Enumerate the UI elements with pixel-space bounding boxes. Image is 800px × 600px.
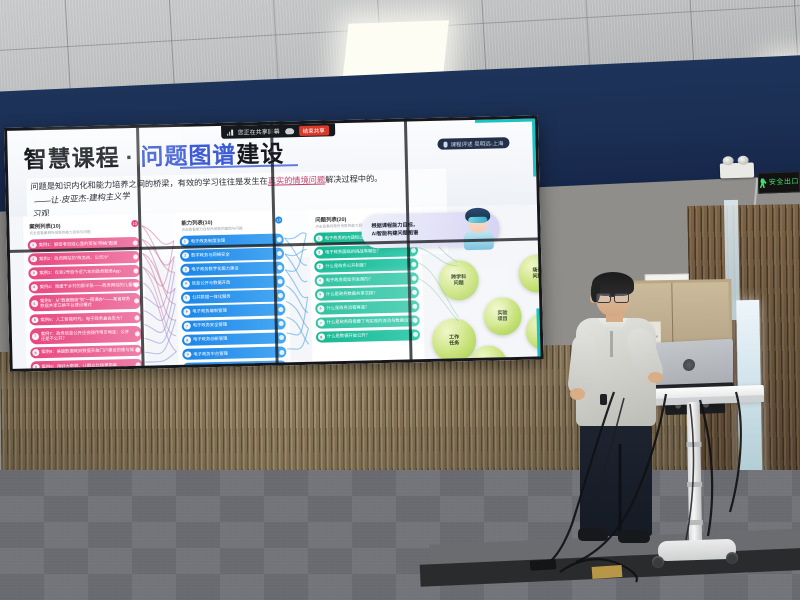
- shoe: [618, 530, 650, 543]
- column-cases: 案例列表(10) 点击查看案例所关联的能力目标与问题 10 1案例1：解密老百姓…: [23, 214, 147, 369]
- emergency-light: [720, 162, 755, 178]
- stop-sharing-button[interactable]: 结束共享: [299, 125, 329, 136]
- card-index: 7: [32, 333, 39, 340]
- ai-suggestion-bubble[interactable]: 根据课程能力目标， AI智能构建问题图谱: [361, 211, 500, 248]
- card-label: 案例2：政府网站的"政务热、公示冷": [39, 254, 109, 262]
- card-connector-port[interactable]: [134, 299, 139, 304]
- graph-node-card[interactable]: 7什么是政务网需要了何实现的流动与数据治理？: [316, 315, 420, 329]
- card-index: 7: [318, 320, 325, 327]
- caster-wheel: [726, 552, 738, 564]
- led-video-wall[interactable]: 智慧课程·问题图谱建设 问题是知识内化和能力培养之间的桥梁，有效的学习往往是发生…: [4, 115, 544, 372]
- card-label: 电子政务数字化能力建设: [191, 265, 238, 272]
- card-index: 5: [31, 300, 38, 307]
- topic-bubble[interactable]: 场景 问题: [518, 254, 540, 293]
- card-label: 数字政务与网络安全: [191, 252, 230, 259]
- card-index: 8: [318, 334, 325, 341]
- card-connector-port[interactable]: [135, 331, 140, 336]
- card-label: 案例8：美国数据政府数据开放门户建设的建与城: [41, 347, 134, 355]
- card-connector-port[interactable]: [133, 240, 138, 245]
- card-connector-port[interactable]: [412, 276, 417, 281]
- graph-node-card[interactable]: 7案例7：政务信息公开还会随作带贝地走：公开还是不公开？: [30, 326, 142, 345]
- graph-node-card[interactable]: 5公共数据一体化服务: [181, 290, 285, 304]
- title-part2: 建设: [236, 140, 285, 167]
- graph-node-card[interactable]: 1案例1：解密老百姓心里的那张"网格"图谱: [28, 237, 140, 251]
- column-capabilities: 能力列表(10) 点击查看能力目标所关联的案例与问题 10 1电子政务制度治理2…: [175, 210, 291, 365]
- card-connector-port[interactable]: [278, 279, 283, 284]
- accent-bar-right-top: [532, 118, 536, 176]
- card-label: 案例6：人工智能时代，电子政务盒会应允？: [40, 315, 124, 323]
- subtitle-highlight: 真实的情境问题: [268, 175, 326, 185]
- card-label: 案例3：在浙2号自今近六年的政务服务App: [39, 268, 120, 276]
- page-title: 智慧课程·问题图谱建设: [23, 134, 284, 174]
- lectern-column: [687, 402, 703, 550]
- card-index: 2: [182, 252, 189, 259]
- card-connector-port[interactable]: [279, 335, 284, 340]
- exit-sign-label: 安全出口: [769, 178, 799, 186]
- card-label: 什么是政务流程再造？: [326, 305, 369, 312]
- caster-wheel: [652, 556, 664, 568]
- card-label: 什么是数据开放公开？: [327, 333, 370, 340]
- card-connector-port[interactable]: [413, 332, 418, 337]
- title-part1: 智慧课程: [23, 144, 120, 172]
- card-label: 案例1：解密老百姓心里的那张"网格"图谱: [39, 240, 118, 248]
- subtitle-line1-end: 解决过程中的。: [325, 174, 383, 184]
- graph-node-card[interactable]: 6什么是政务流程再造？: [315, 301, 419, 315]
- card-label: 电子政务中台管理: [193, 350, 228, 357]
- card-connector-port[interactable]: [413, 318, 418, 323]
- card-connector-port[interactable]: [277, 237, 282, 242]
- card-index: 3: [182, 266, 189, 273]
- card-index: 6: [317, 305, 324, 312]
- left-hand: [570, 388, 585, 400]
- eyeglasses-icon: [596, 293, 629, 302]
- card-connector-port[interactable]: [135, 348, 140, 353]
- card-label: 电子政务面临的挑战有哪些？: [325, 248, 381, 255]
- card-label: 公共数据一体化服务: [192, 294, 231, 301]
- card-label: 什么是政务网需要了何实现的流动与数据治理？: [327, 318, 417, 326]
- card-label: 案例5：从"数据烟囱"到"一网通办"——某省政务数据共享交换平台建设模式: [40, 296, 132, 309]
- card-index: 6: [31, 317, 38, 324]
- ai-assistant-avatar: [459, 207, 498, 250]
- card-connector-port[interactable]: [279, 349, 284, 354]
- graph-node-card[interactable]: 4信息公开与数据开放: [181, 276, 285, 290]
- graph-node-card[interactable]: 1电子政务制度治理: [180, 233, 284, 247]
- exit-sign: 安全出口: [758, 171, 800, 193]
- card-index: 1: [316, 235, 323, 242]
- card-index: 5: [317, 291, 324, 298]
- presenter-badge[interactable]: 课程评述 吴明远-上海: [437, 137, 509, 150]
- card-connector-port[interactable]: [136, 362, 141, 367]
- card-label: 什么是政务公开制度？: [325, 262, 368, 269]
- lecture-hall-scene: 安全出口 智慧课程·问题图谱建设 问题是知识内化和能力培养之间的桥梁，有效的学习…: [0, 0, 800, 600]
- topic-bubble[interactable]: 实验 项目: [483, 297, 522, 336]
- graph-node-card[interactable]: 8案例8：美国数据政府数据开放门户建设的建与城: [30, 344, 142, 358]
- card-index: 1: [182, 238, 189, 245]
- screen-share-toolbar[interactable]: 您正在共享屏幕 结束共享: [221, 123, 335, 139]
- card-index: 5: [183, 295, 190, 302]
- card-index: 6: [183, 309, 190, 316]
- graph-node-card[interactable]: 3什么是政务公开制度？: [314, 258, 418, 272]
- graph-node-card[interactable]: 3案例3：在浙2号自今近六年的政务服务App: [28, 265, 140, 279]
- card-label: 案例4：隐匿于乡村的那半张——政务网站的儿童教育: [40, 282, 141, 290]
- card-index: 3: [30, 270, 37, 277]
- case-card-list: 1案例1：解密老百姓心里的那张"网格"图谱2案例2：政府网站的"政务热、公示冷"…: [24, 237, 148, 369]
- graph-node-card[interactable]: 6电子政务编制管理: [181, 304, 285, 318]
- graph-node-card[interactable]: 4电子政务是如何发展的？: [315, 273, 419, 287]
- card-connector-port[interactable]: [134, 282, 139, 287]
- card-index: 8: [184, 337, 191, 344]
- card-index: 4: [183, 280, 190, 287]
- graph-node-card[interactable]: 3电子政务数字化能力建设: [180, 262, 284, 276]
- card-label: 电子政务创新管理: [193, 336, 228, 343]
- graph-node-card[interactable]: 6案例6：人工智能时代，电子政务盒会应允？: [29, 312, 141, 326]
- card-label: 什么是政务数据共享交换？: [326, 290, 378, 297]
- capability-card-list: 1电子政务制度治理2数字政务与网络安全3电子政务数字化能力建设4信息公开与数据开…: [176, 233, 291, 369]
- title-separator: ·: [119, 144, 140, 170]
- signal-bars-icon: [227, 129, 233, 135]
- card-connector-port[interactable]: [411, 262, 416, 267]
- card-index: 1: [30, 242, 37, 249]
- card-connector-port[interactable]: [277, 265, 282, 270]
- subtitle-line1: 问题是知识内化和能力培养之间的桥梁，有效的学习往往是发生在: [30, 177, 268, 192]
- card-index: 2: [316, 249, 323, 256]
- running-man-icon: [759, 178, 767, 188]
- graph-node-card[interactable]: 9案例9：用好大数据，让群众比快更简单: [31, 359, 143, 369]
- graph-node-card[interactable]: 7电子政务安全管理: [182, 318, 286, 332]
- topic-bubble[interactable]: 工作 任务: [432, 318, 477, 363]
- graph-node-card[interactable]: 5什么是政务数据共享交换？: [315, 287, 419, 301]
- presenter: [560, 276, 680, 546]
- card-label: 案例7：政务信息公开还会随作带贝地走：公开还是不公开？: [41, 329, 133, 342]
- graph-node-card[interactable]: 4案例4：隐匿于乡村的那半张——政务网站的儿童教育: [29, 279, 141, 293]
- laptop-logo: [683, 359, 695, 372]
- card-connector-port[interactable]: [412, 304, 417, 309]
- card-label: 电子政务安全管理: [193, 322, 228, 329]
- right-hand: [648, 372, 663, 383]
- floor-tape: [592, 565, 623, 579]
- shoe: [578, 528, 608, 541]
- card-index: 9: [33, 363, 40, 368]
- power-adapter: [530, 559, 556, 570]
- ai-bubble-line2: AI智能构建问题图谱: [372, 230, 419, 239]
- card-index: 2: [30, 256, 37, 263]
- card-index: 9: [184, 351, 191, 358]
- card-connector-port[interactable]: [412, 290, 417, 295]
- card-connector-port[interactable]: [133, 268, 138, 273]
- card-label: 电子政务编制管理: [192, 308, 227, 315]
- lavalier-microphone: [600, 394, 607, 405]
- card-index: 7: [184, 323, 191, 330]
- microphone-icon: [444, 141, 448, 147]
- card-index: 3: [316, 263, 323, 270]
- card-connector-port[interactable]: [134, 315, 139, 320]
- card-connector-port[interactable]: [133, 254, 138, 259]
- card-connector-port[interactable]: [277, 251, 282, 256]
- cloud-icon[interactable]: [285, 128, 294, 134]
- topic-bubble[interactable]: 跨学科 问题: [438, 260, 479, 301]
- card-index: 4: [317, 277, 324, 284]
- card-connector-port[interactable]: [278, 307, 283, 312]
- card-index: 4: [31, 284, 38, 291]
- card-label: 案例9：用好大数据，让群众比快更简单: [42, 362, 118, 369]
- graph-node-card[interactable]: 8电子政务创新管理: [182, 332, 286, 346]
- card-label: 电子政务制度治理: [191, 238, 226, 245]
- graph-node-card[interactable]: 5案例5：从"数据烟囱"到"一网通办"——某省政务数据共享交换平台建设模式: [29, 293, 141, 312]
- card-connector-port[interactable]: [279, 321, 284, 326]
- sharing-status-label: 您正在共享屏幕: [238, 127, 280, 137]
- graph-node-card[interactable]: 8什么是数据开放公开？: [316, 329, 420, 343]
- accent-bar-right-bottom: [536, 308, 540, 356]
- graph-node-card[interactable]: 9电子政务中台管理: [182, 346, 286, 360]
- slide-screen: 智慧课程·问题图谱建设 问题是知识内化和能力培养之间的桥梁，有效的学习往往是发生…: [7, 118, 540, 368]
- card-label: 信息公开与数据开放: [192, 280, 231, 287]
- card-connector-port[interactable]: [278, 293, 283, 298]
- graph-node-card[interactable]: 2案例2：政府网站的"政务热、公示冷": [28, 251, 140, 265]
- card-connector-port[interactable]: [411, 248, 416, 253]
- presenter-badge-label: 课程评述 吴明远-上海: [451, 139, 504, 148]
- graph-node-card[interactable]: 2数字政务与网络安全: [180, 248, 284, 262]
- card-index: 8: [32, 349, 39, 356]
- card-label: 电子政务是如何发展的？: [326, 276, 373, 283]
